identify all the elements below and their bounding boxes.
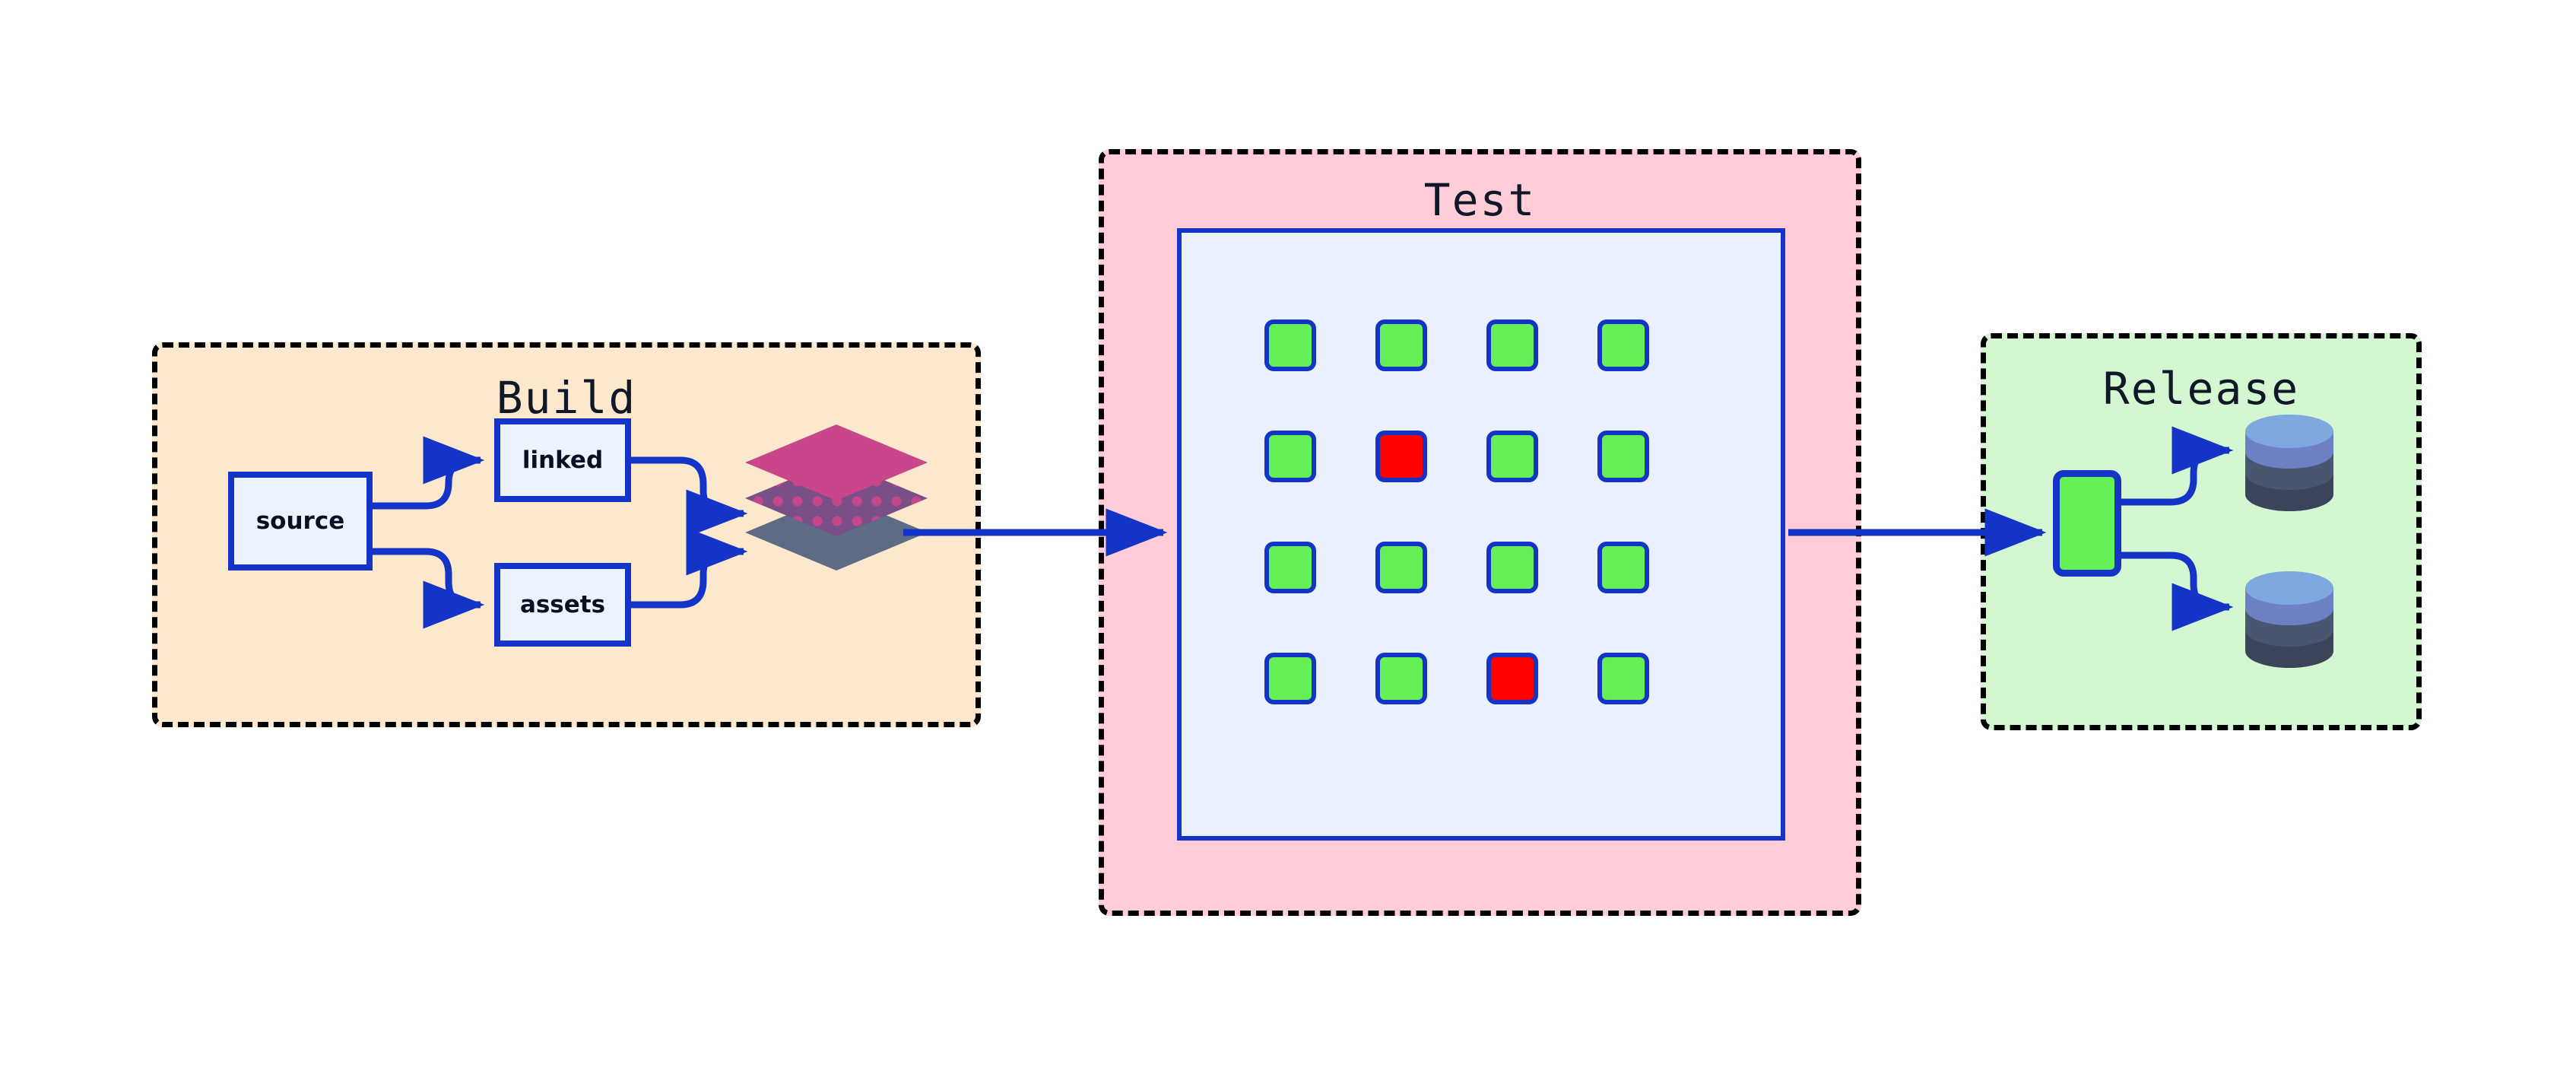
test-cell-pass[interactable] bbox=[1597, 542, 1649, 593]
node-linked-label: linked bbox=[522, 447, 603, 474]
stage-release[interactable]: Release bbox=[1981, 333, 2422, 730]
test-cell-pass[interactable] bbox=[1486, 431, 1538, 482]
node-linked[interactable]: linked bbox=[494, 418, 631, 502]
node-source-label: source bbox=[256, 507, 345, 535]
test-cell-pass[interactable] bbox=[1375, 542, 1427, 593]
test-cell-pass[interactable] bbox=[1264, 542, 1316, 593]
test-cell-pass[interactable] bbox=[1264, 431, 1316, 482]
test-cell-pass[interactable] bbox=[1486, 319, 1538, 371]
test-cell-pass[interactable] bbox=[1597, 319, 1649, 371]
stage-test-title: Test bbox=[1104, 174, 1856, 226]
test-cell-fail[interactable] bbox=[1486, 653, 1538, 704]
node-release-gate[interactable] bbox=[2053, 470, 2121, 577]
test-cell-fail[interactable] bbox=[1375, 431, 1427, 482]
stage-release-title: Release bbox=[1986, 363, 2416, 415]
test-cell-pass[interactable] bbox=[1486, 542, 1538, 593]
test-cell-pass[interactable] bbox=[1597, 653, 1649, 704]
test-results-grid bbox=[1264, 319, 1649, 704]
diagram-canvas: Build source linked assets Test Release bbox=[0, 0, 2576, 1068]
stage-build-title: Build bbox=[157, 372, 976, 424]
test-cell-pass[interactable] bbox=[1375, 653, 1427, 704]
node-assets[interactable]: assets bbox=[494, 563, 631, 647]
test-cell-pass[interactable] bbox=[1264, 319, 1316, 371]
test-cell-pass[interactable] bbox=[1597, 431, 1649, 482]
node-assets-label: assets bbox=[520, 591, 605, 618]
test-cell-pass[interactable] bbox=[1264, 653, 1316, 704]
test-cell-pass[interactable] bbox=[1375, 319, 1427, 371]
node-source[interactable]: source bbox=[228, 472, 373, 571]
